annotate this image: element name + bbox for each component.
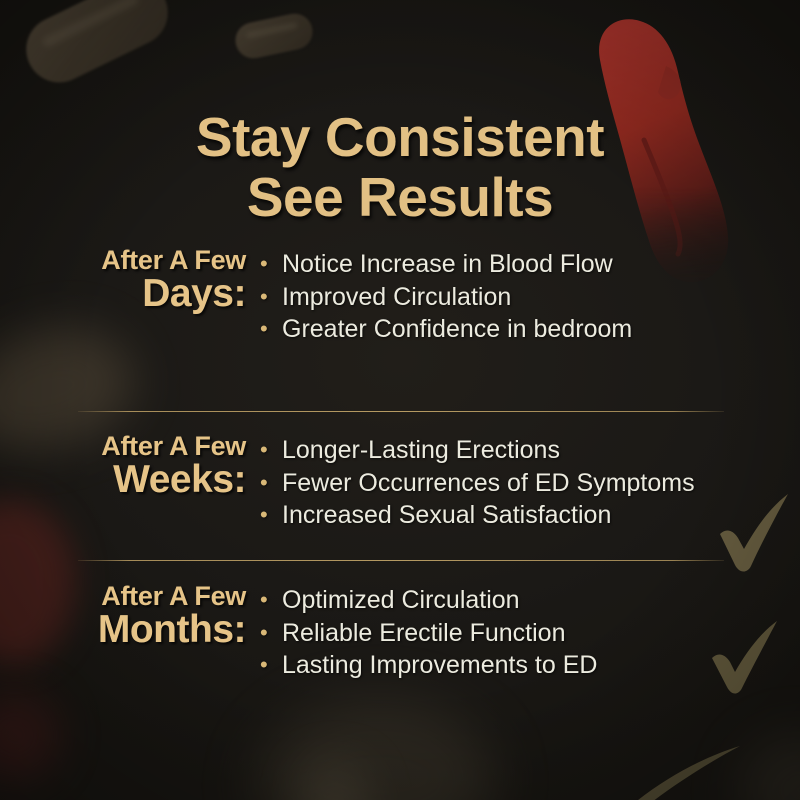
section-bullets-days: • Notice Increase in Blood Flow • Improv…: [260, 246, 800, 346]
list-item: • Increased Sexual Satisfaction: [260, 499, 800, 532]
bullet-marker-icon: •: [260, 467, 282, 498]
bullet-marker-icon: •: [260, 434, 282, 465]
title-line-1: Stay Consistent: [196, 106, 604, 168]
section-divider-2: [78, 560, 724, 561]
bullet-marker-icon: •: [260, 281, 282, 312]
page-title: Stay Consistent See Results: [0, 107, 800, 228]
list-item-label: Greater Confidence in bedroom: [282, 313, 800, 346]
section-months: After A Few Months: • Optimized Circulat…: [0, 582, 800, 682]
section-weeks: After A Few Weeks: • Longer-Lasting Erec…: [0, 432, 800, 532]
list-item: • Longer-Lasting Erections: [260, 434, 800, 467]
list-item-label: Lasting Improvements to ED: [282, 649, 800, 682]
section-lead-days: After A Few: [0, 246, 246, 274]
list-item-label: Improved Circulation: [282, 281, 800, 314]
list-item: • Notice Increase in Blood Flow: [260, 248, 800, 281]
section-label-weeks: After A Few Weeks:: [0, 432, 260, 500]
section-divider-1: [78, 411, 724, 412]
bullet-marker-icon: •: [260, 313, 282, 344]
list-item-label: Longer-Lasting Erections: [282, 434, 800, 467]
section-lead-weeks: After A Few: [0, 432, 246, 460]
bullet-marker-icon: •: [260, 584, 282, 615]
list-item-label: Optimized Circulation: [282, 584, 800, 617]
list-item: • Optimized Circulation: [260, 584, 800, 617]
section-unit-days: Days:: [0, 273, 246, 314]
bullet-marker-icon: •: [260, 617, 282, 648]
poster-content: Stay Consistent See Results After A Few …: [0, 0, 800, 800]
list-item: • Reliable Erectile Function: [260, 617, 800, 650]
list-item: • Improved Circulation: [260, 281, 800, 314]
section-bullets-weeks: • Longer-Lasting Erections • Fewer Occur…: [260, 432, 800, 532]
section-unit-weeks: Weeks:: [0, 459, 246, 500]
bullet-marker-icon: •: [260, 499, 282, 530]
poster-canvas: Stay Consistent See Results After A Few …: [0, 0, 800, 800]
bullet-marker-icon: •: [260, 248, 282, 279]
list-item-label: Fewer Occurrences of ED Symptoms: [282, 467, 800, 500]
list-item-label: Reliable Erectile Function: [282, 617, 800, 650]
section-unit-months: Months:: [0, 609, 246, 650]
list-item-label: Increased Sexual Satisfaction: [282, 499, 800, 532]
section-lead-months: After A Few: [0, 582, 246, 610]
bullet-marker-icon: •: [260, 649, 282, 680]
list-item: • Greater Confidence in bedroom: [260, 313, 800, 346]
list-item-label: Notice Increase in Blood Flow: [282, 248, 800, 281]
section-days: After A Few Days: • Notice Increase in B…: [0, 246, 800, 346]
section-bullets-months: • Optimized Circulation • Reliable Erect…: [260, 582, 800, 682]
section-label-days: After A Few Days:: [0, 246, 260, 314]
list-item: • Lasting Improvements to ED: [260, 649, 800, 682]
section-label-months: After A Few Months:: [0, 582, 260, 650]
list-item: • Fewer Occurrences of ED Symptoms: [260, 467, 800, 500]
title-line-2: See Results: [0, 167, 800, 228]
